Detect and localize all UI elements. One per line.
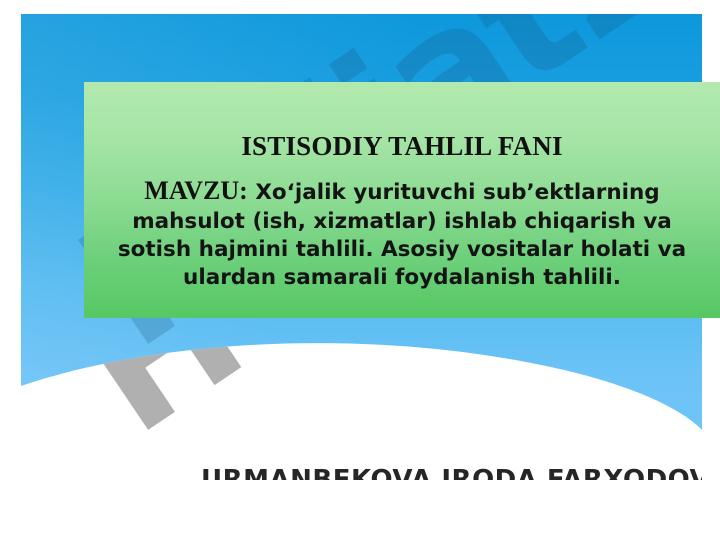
subject-label: MAVZU: bbox=[144, 176, 248, 205]
bottom-wave-decoration bbox=[21, 290, 702, 480]
watermark-grey-overlay: Hujjat24 bbox=[21, 290, 702, 480]
slide-subject: MAVZU: Xo‘jalik yurituvchi sub’ektlarnin… bbox=[90, 174, 714, 292]
presenter-name: URMANBEKOVA IRODA FARXODOVNA bbox=[201, 465, 702, 480]
content-box: ISTISODIY TAHLIL FANI MAVZU: Xo‘jalik yu… bbox=[84, 82, 720, 318]
slide-title: ISTISODIY TAHLIL FANI bbox=[90, 132, 714, 160]
slide-root: Hujjat24 Hujjat24 URMANBEKOVA IRODA FARX… bbox=[0, 0, 720, 540]
